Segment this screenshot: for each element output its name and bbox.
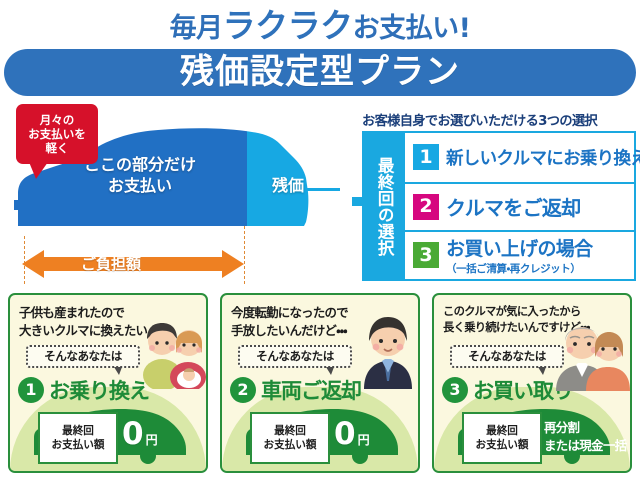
option-3-text-wrap: お買い上げの場合 （一括ご清算・再クレジット） xyxy=(446,234,592,276)
card-1-title: お乗り換え xyxy=(49,375,149,405)
card-2-number-badge: 2 xyxy=(230,377,256,403)
card-2-final-payment-line-2: お支払い額 xyxy=(264,438,317,452)
card-1-number-badge: 1 xyxy=(18,377,44,403)
monthly-payment-balloon-text: 月々の お支払いを 軽く xyxy=(16,104,98,164)
card-2-title: 車両ご返却 xyxy=(261,375,361,405)
card-2-hint-box: そんなあなたは xyxy=(238,345,352,368)
card-3-hint-box: そんなあなたは xyxy=(450,345,564,368)
dashed-guide-right xyxy=(244,226,245,284)
final-choice-box: 最終回の選択 1 新しいクルマにお乗り換え 2 クルマをご返却 3 xyxy=(362,131,636,281)
card-3-final-payment-line-1: 最終回 xyxy=(486,424,518,438)
option-1-text-wrap: 新しいクルマにお乗り換え xyxy=(446,145,640,170)
card-3-price-line-2: または現金一括 xyxy=(544,437,630,455)
scenario-card-2[interactable]: 今度転勤になったので 手放したいんだけど・・・ そんなあなたは 2 車 xyxy=(220,293,420,473)
balloon-line-1: 月々の xyxy=(40,113,75,127)
headline-top-part-a: 毎月 xyxy=(170,13,223,44)
senior-couple-icon xyxy=(556,311,632,391)
card-2-title-row: 2 車両ご返却 xyxy=(230,374,361,406)
balloon-line-3: 軽く xyxy=(46,141,69,155)
option-2-badge: 2 xyxy=(413,194,439,220)
plan-title-band: 残価設定型プラン xyxy=(4,49,636,96)
final-choice-options-list: 1 新しいクルマにお乗り換え 2 クルマをご返却 3 お買い上げの場合 （一括 xyxy=(405,133,634,279)
card-3-final-payment-box: 最終回 お支払い額 xyxy=(462,412,542,464)
final-choice-side-tab: 最終回の選択 xyxy=(364,133,405,279)
final-choice-option-1[interactable]: 1 新しいクルマにお乗り換え xyxy=(405,133,634,182)
final-choice-option-3[interactable]: 3 お買い上げの場合 （一括ご清算・再クレジット） xyxy=(405,230,634,279)
card-2-final-payment-box: 最終回 お支払い額 xyxy=(250,412,330,464)
balloon-tail-icon xyxy=(29,162,48,179)
option-1-badge: 1 xyxy=(413,144,439,170)
option-3-label: お買い上げの場合 xyxy=(446,234,592,261)
card-1-hint-box: そんなあなたは xyxy=(26,345,140,368)
card-2-price-number: 0 xyxy=(334,419,356,450)
card-1-price-unit: 円 xyxy=(146,431,158,448)
card-3-price-text: 再分割 または現金一括 xyxy=(544,419,630,454)
monthly-payment-balloon: 月々の お支払いを 軽く xyxy=(16,104,98,164)
headline-top-emphasis: ラクラク xyxy=(223,6,353,45)
car-front-label-line-2: お支払い xyxy=(60,175,220,196)
final-choice-heading: お客様自身でお選びいただける3つの選択 xyxy=(362,110,636,128)
panel-connector-stub xyxy=(352,197,364,206)
businessman-icon xyxy=(358,311,418,389)
card-2-final-payment-line-1: 最終回 xyxy=(274,424,306,438)
balloon-line-2: お支払いを xyxy=(28,127,86,141)
card-2-hint-text: そんなあなたは xyxy=(240,347,350,366)
card-3-price-line-1: 再分割 xyxy=(544,419,630,437)
final-choice-side-label: 最終回の選択 xyxy=(376,157,393,256)
card-3-hint-text: そんなあなたは xyxy=(452,347,562,366)
card-1-final-payment-box: 最終回 お支払い額 xyxy=(38,412,118,464)
infographic-root: 毎月ラクラクお支払い! 残価設定型プラン 月々の お支払いを 軽く xyxy=(0,0,640,480)
card-1-final-payment-line-1: 最終回 xyxy=(62,424,94,438)
card-1-price-number: 0 xyxy=(122,419,144,450)
final-choice-option-2[interactable]: 2 クルマをご返却 xyxy=(405,182,634,231)
final-choice-panel: お客様自身でお選びいただける3つの選択 最終回の選択 1 新しいクルマにお乗り換… xyxy=(362,110,636,282)
card-1-title-row: 1 お乗り換え xyxy=(18,374,149,406)
card-3-title-row: 3 お買い取り xyxy=(442,374,573,406)
option-1-label: 新しいクルマにお乗り換え xyxy=(446,145,640,170)
scenario-card-3[interactable]: このクルマが気に入ったから 長く乗り続けたいんですけど・・・ そんなあなた xyxy=(432,293,632,473)
card-1-final-payment-line-2: お支払い額 xyxy=(52,438,105,452)
card-2-price-unit: 円 xyxy=(358,431,370,448)
option-2-label: クルマをご返却 xyxy=(446,192,581,221)
card-1-price: 0 円 xyxy=(122,419,186,459)
family-with-baby-icon xyxy=(138,309,208,389)
card-3-number-badge: 3 xyxy=(442,377,468,403)
option-3-badge: 3 xyxy=(413,242,439,268)
scenario-cards: 子供も産まれたので 大きいクルマに換えたい！ xyxy=(0,293,640,476)
headline-top: 毎月ラクラクお支払い! xyxy=(0,8,640,44)
option-2-text-wrap: クルマをご返却 xyxy=(446,192,581,221)
headline-top-part-b: お支払い! xyxy=(353,13,471,44)
scenario-card-1[interactable]: 子供も産まれたので 大きいクルマに換えたい！ xyxy=(8,293,208,473)
plan-title: 残価設定型プラン xyxy=(4,49,636,96)
card-1-hint-text: そんなあなたは xyxy=(28,347,138,366)
burden-amount-label: ご負担額 xyxy=(0,248,222,280)
car-rear-label: 残価 xyxy=(253,172,323,196)
card-2-price: 0 円 xyxy=(334,419,398,459)
card-3-final-payment-line-2: お支払い額 xyxy=(476,438,529,452)
option-3-sublabel: （一括ご清算・再クレジット） xyxy=(446,261,592,276)
